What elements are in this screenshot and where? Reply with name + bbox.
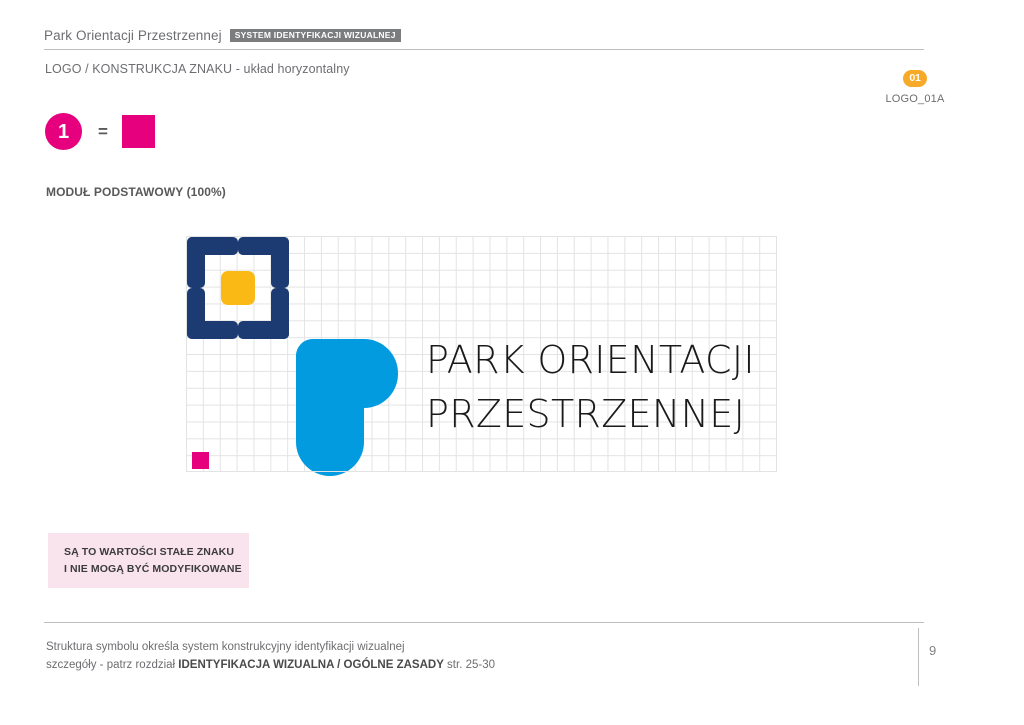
footer-text: Struktura symbolu określa system konstru… — [46, 638, 495, 675]
page-title: LOGO / KONSTRUKCJA ZNAKU - układ horyzon… — [45, 62, 350, 76]
badge-number: 01 — [903, 70, 927, 87]
module-definition-row: 1 = — [45, 113, 155, 150]
navy-bracket-bottom-right-horizontal — [238, 321, 289, 339]
note-line-1: SĄ TO WARTOŚCI STAŁE ZNAKU — [64, 544, 249, 560]
navy-bracket-top-left-vertical — [187, 237, 205, 288]
module-number-circle: 1 — [45, 113, 82, 150]
amber-center-square — [221, 271, 255, 305]
logo-wordmark-line-1: PARK ORIENTACJI — [426, 338, 755, 382]
footer-line-2: szczegóły - patrz rozdział IDENTYFIKACJA… — [46, 656, 495, 674]
header-title: Park Orientacji Przestrzennej — [44, 28, 222, 43]
header-divider — [44, 49, 924, 50]
badge-label: LOGO_01A — [880, 93, 950, 105]
footer-chapter-reference: IDENTYFIKACJA WIZUALNA / OGÓLNE ZASADY — [178, 659, 444, 671]
footer-line-2-prefix: szczegóły - patrz rozdział — [46, 659, 178, 671]
footer-page-range: str. 25-30 — [444, 659, 495, 671]
logo-construction-grid: PARK ORIENTACJI PRZESTRZENNEJ — [186, 236, 777, 472]
module-unit-square — [122, 115, 155, 148]
equals-sign: = — [98, 123, 108, 140]
logo-wordmark-line-2: PRZESTRZENNEJ — [426, 392, 745, 436]
cyan-p-stem — [296, 339, 364, 476]
navy-bracket-bottom-left-horizontal — [187, 321, 238, 339]
navy-bracket-top-right-vertical — [271, 237, 289, 288]
constant-values-note: SĄ TO WARTOŚCI STAŁE ZNAKU I NIE MOGĄ BY… — [48, 533, 249, 588]
header-system-tag: SYSTEM IDENTYFIKACJI WIZUALNEJ — [230, 29, 401, 43]
note-line-2: I NIE MOGĄ BYĆ MODYFIKOWANE — [64, 561, 249, 577]
logo-wordmark: PARK ORIENTACJI PRZESTRZENNEJ — [426, 334, 755, 442]
page-number: 9 — [929, 643, 936, 658]
document-header: Park Orientacji Przestrzennej SYSTEM IDE… — [44, 28, 924, 43]
logo-reference-badge: 01 LOGO_01A — [880, 70, 950, 105]
magenta-unit-cell — [192, 452, 209, 469]
footer-line-1: Struktura symbolu określa system konstru… — [46, 638, 495, 656]
page-number-divider — [918, 628, 919, 686]
footer-divider — [44, 622, 924, 623]
module-caption: MODUŁ PODSTAWOWY (100%) — [46, 185, 226, 199]
